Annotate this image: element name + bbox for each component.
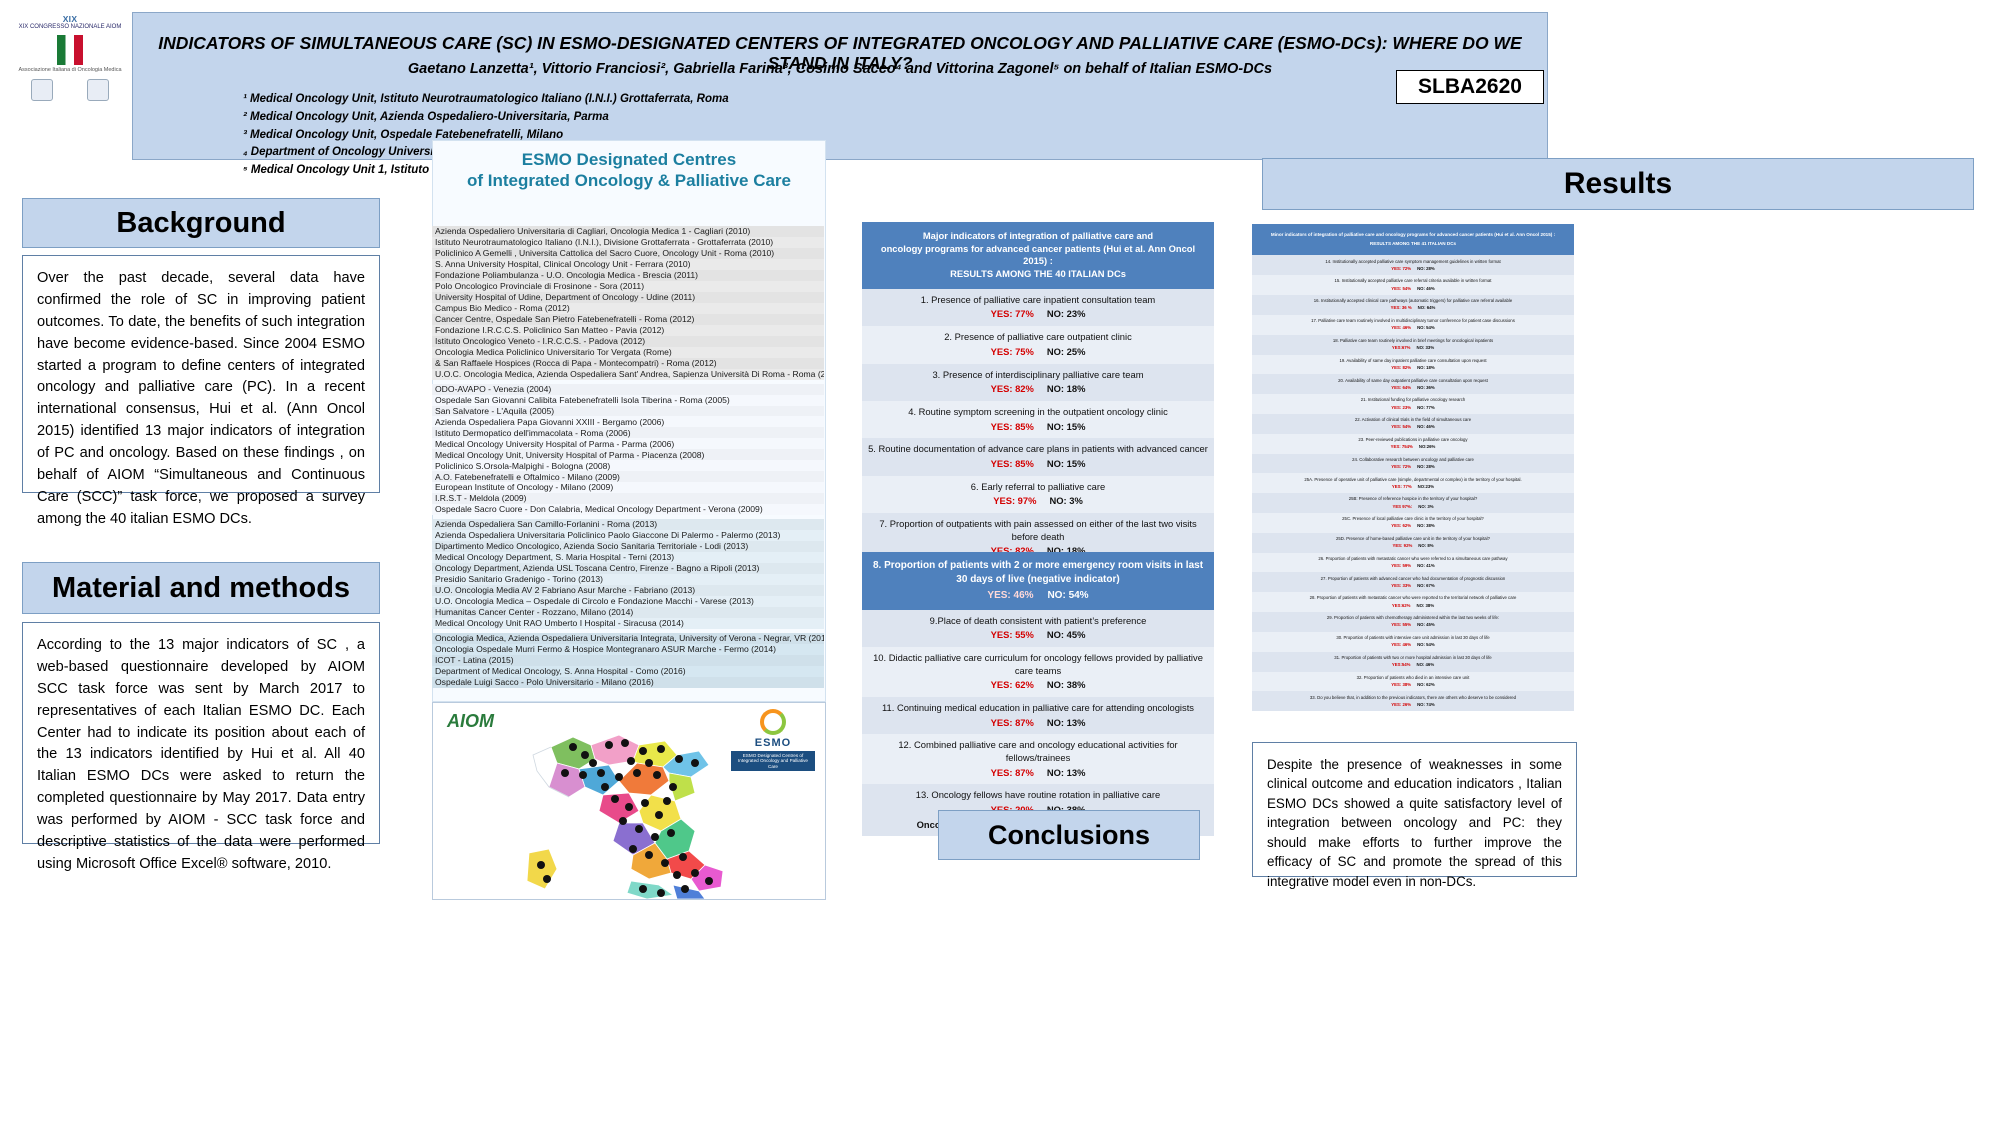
center-list-item: U.O. Oncologia Medica – Ospedale di Circ… xyxy=(432,596,824,607)
major-table-body: 1. Presence of palliative care inpatient… xyxy=(862,289,1214,563)
center-list-item: San Salvatore - L'Aquila (2005) xyxy=(432,406,824,417)
center-list-item: Presidio Sanitario Gradenigo - Torino (2… xyxy=(432,574,824,585)
centres-panel-title: ESMO Designated Centres of Integrated On… xyxy=(433,149,825,192)
indicator-answer: YES:67% NO: 33% xyxy=(1256,345,1570,351)
indicator-text: 17. Palliative care team routinely invol… xyxy=(1256,318,1570,324)
center-list-item: Policlinico A Gemelli , Universita Catto… xyxy=(432,248,824,259)
center-list-item: Department of Medical Oncology, S. Anna … xyxy=(432,666,824,677)
indicator-no-value: NO: 3% xyxy=(1412,504,1433,509)
indicator-text: 23. Peer-reviewed publications in pallia… xyxy=(1256,437,1570,443)
center-list-item: Fondazione I.R.C.C.S. Policlinico San Ma… xyxy=(432,325,824,336)
indicator-no-value: NO: 36% xyxy=(1411,385,1435,390)
indicator-answer: YES: 72% NO: 28% xyxy=(1256,266,1570,272)
indicator-no-value: NO: 18% xyxy=(1411,365,1435,370)
indicator-yes-value: YES: 62% xyxy=(991,679,1034,690)
centres-group: Oncologia Medica, Azienda Ospedaliera Un… xyxy=(432,633,824,688)
affiliation-item: ¹ Medical Oncology Unit, Istituto Neurot… xyxy=(243,91,729,109)
indicator-yes-value: YES: 36 % xyxy=(1391,305,1412,310)
indicator-yes-value: YES: 85% xyxy=(991,421,1034,432)
indicator-answer: YES: 85% NO: 15% xyxy=(868,458,1208,471)
indicator-yes-value: YES:67% xyxy=(1392,345,1411,350)
major-table-header-line: RESULTS AMONG THE 40 ITALIAN DCs xyxy=(868,268,1208,281)
center-list-item: U.O. Oncologia Media AV 2 Fabriano Asur … xyxy=(432,585,824,596)
indicator-yes-value: YES: 26% xyxy=(1391,702,1411,707)
material-methods-text: According to the 13 major indicators of … xyxy=(22,622,380,844)
indicator-answer: YES: 54% NO: 46% xyxy=(1256,424,1570,430)
indicator-no-value: NO: 15% xyxy=(1034,458,1086,469)
center-list-item: Medical Oncology Unit, University Hospit… xyxy=(432,449,824,460)
indicator-no-value: NO: 54% xyxy=(1411,325,1435,330)
indicator-no-value: NO:23% xyxy=(1412,484,1434,489)
indicator-yes-value: YES: 87% xyxy=(991,717,1034,728)
indicator-no-value: NO:26% xyxy=(1413,444,1435,449)
indicator-row: 29. Proportion of patients with chemothe… xyxy=(1252,612,1574,632)
author-list: Gaetano Lanzetta¹, Vittorio Franciosi², … xyxy=(133,61,1547,77)
indicator-no-value: NO: 77% xyxy=(1411,405,1435,410)
indicator-no-value: NO: 33% xyxy=(1411,345,1435,350)
center-list-item: University Hospital of Udine, Department… xyxy=(432,292,824,303)
indicator-no-value: NO: 25% xyxy=(1034,346,1086,357)
indicator-row: 12. Combined palliative care and oncolog… xyxy=(862,734,1214,784)
center-list-item: Ospedale San Giovanni Calibita Fatebenef… xyxy=(432,395,824,406)
indicator-no-value: NO: 46% xyxy=(1411,424,1435,429)
indicator-no-value: NO: 38% xyxy=(1411,523,1435,528)
indicator-row: 26. Proportion of patients with metastat… xyxy=(1252,553,1574,573)
indicator-row: 23. Peer-reviewed publications in pallia… xyxy=(1252,434,1574,454)
indicator-row: 10. Didactic palliative care curriculum … xyxy=(862,647,1214,697)
partner-badge-icon xyxy=(87,79,109,101)
indicator-yes-value: YES: 82% xyxy=(1391,365,1411,370)
indicator-row: 4. Routine symptom screening in the outp… xyxy=(862,401,1214,438)
indicator-row: 9.Place of death consistent with patient… xyxy=(862,610,1214,647)
indicator-row: 16. Institutionally accepted clinical ca… xyxy=(1252,295,1574,315)
italy-map-graphic xyxy=(433,703,826,900)
indicator-text: 25C. Presence of local palliative care c… xyxy=(1256,516,1570,522)
indicator-yes-value: YES: 33% xyxy=(1391,583,1411,588)
italian-centers-list: Azienda Ospedaliero Universitaria di Cag… xyxy=(432,226,824,702)
indicator-yes-value: YES: 77% xyxy=(1392,484,1412,489)
indicator-answer: YES: 72% NO: 28% xyxy=(1256,464,1570,470)
indicator-row: 17. Palliative care team routinely invol… xyxy=(1252,315,1574,335)
abstract-number-badge: SLBA2620 xyxy=(1396,70,1544,104)
indicator-row: 3. Presence of interdisciplinary palliat… xyxy=(862,364,1214,401)
indicator-no-value: NO: 45% xyxy=(1411,622,1435,627)
indicator-answer: YES: 82% NO: 18% xyxy=(868,383,1208,396)
indicator-text: 6. Early referral to palliative care xyxy=(868,481,1208,494)
indicator-yes-value: YES: 64% xyxy=(1391,385,1411,390)
indicator-yes-value: YES: 23% xyxy=(1391,405,1411,410)
centres-group: Azienda Ospedaliero Universitaria di Cag… xyxy=(432,226,824,380)
poster-header: INDICATORS OF SIMULTANEOUS CARE (SC) IN … xyxy=(132,12,1548,160)
indicator-text: 12. Combined palliative care and oncolog… xyxy=(868,739,1208,764)
indicator-no-value: NO: 18% xyxy=(1034,383,1086,394)
center-list-item: Istituto Neurotraumatologico Italiano (I… xyxy=(432,237,824,248)
minor-table-body: 14. Institutionally accepted palliative … xyxy=(1252,255,1574,711)
indicator-no-value: NO: 46% xyxy=(1411,662,1435,667)
indicator-text: 32. Proportion of patients who died in a… xyxy=(1256,675,1570,681)
minor-indicators-table: Minor indicators of integration of palli… xyxy=(1252,224,1574,711)
center-list-item: Ospedale Luigi Sacco - Polo Universitari… xyxy=(432,677,824,688)
center-list-item: Azienda Ospedaliera Papa Giovanni XXIII … xyxy=(432,416,824,427)
indicator-yes-value: YES: 55% xyxy=(1391,622,1411,627)
indicator-text: 26. Proportion of patients with metastat… xyxy=(1256,556,1570,562)
major-indicators-table: Major indicators of integration of palli… xyxy=(862,222,1214,563)
indicator-row: 25B: Presence of reference hospice in th… xyxy=(1252,493,1574,513)
indicator-answer: YES: 75% NO: 25% xyxy=(868,346,1208,359)
indicator-yes-value: YES: 46% xyxy=(1391,325,1411,330)
indicator-row: 32. Proportion of patients who died in a… xyxy=(1252,672,1574,692)
indicator-text: 33. Do you believe that, in addition to … xyxy=(1256,695,1570,701)
indicator-row: 24. Collaborative research between oncol… xyxy=(1252,454,1574,474)
indicator-text: 25D. Presence of home-based palliative c… xyxy=(1256,536,1570,542)
affiliation-item: ² Medical Oncology Unit, Azienda Ospedal… xyxy=(243,109,729,127)
indicator-no-value: NO: 3% xyxy=(1036,495,1082,506)
center-list-item: Polo Oncologico Provinciale di Frosinone… xyxy=(432,281,824,292)
indicator-yes-value: YES: 85% xyxy=(991,458,1034,469)
center-list-item: Azienda Ospedaliera Universitaria Policl… xyxy=(432,530,824,541)
indicator-text: 5. Routine documentation of advance care… xyxy=(868,443,1208,456)
indicator-answer: YES: 92% NO: 8% xyxy=(1256,543,1570,549)
center-list-item: Oncologia Medica, Azienda Ospedaliera Un… xyxy=(432,633,824,644)
center-list-item: I.R.S.T - Meldola (2009) xyxy=(432,493,824,504)
italy-map: AIOM ESMO ESMO Designated Centres of Int… xyxy=(432,702,826,900)
indicator-yes-value: YES: 72% xyxy=(1391,464,1411,469)
indicator-answer: YES: 46% NO: 54% xyxy=(1256,642,1570,648)
indicator-row: 30. Proportion of patients with intensiv… xyxy=(1252,632,1574,652)
indicator-text: 25A. Presence of operative unit of palli… xyxy=(1256,477,1570,483)
indicator-yes-value: YES: 46% xyxy=(1391,642,1411,647)
indicator-answer: YES: 62% NO: 38% xyxy=(1256,523,1570,529)
indicator-row: 11. Continuing medical education in pall… xyxy=(862,697,1214,734)
center-list-item: S. Anna University Hospital, Clinical On… xyxy=(432,259,824,270)
center-list-item: Medical Oncology University Hospital of … xyxy=(432,438,824,449)
indicator-no-value: NO: 28% xyxy=(1411,464,1435,469)
indicator-answer: YES: 62% NO: 38% xyxy=(868,679,1208,692)
indicator-text: 21. Institutional funding for palliative… xyxy=(1256,397,1570,403)
major2-highlight-row: 8. Proportion of patients with 2 or more… xyxy=(862,552,1214,610)
indicator-yes-value: YES: 55% xyxy=(991,629,1034,640)
highlight-yes-value: YES: 46% xyxy=(987,590,1033,601)
aiom-badge-icon xyxy=(31,79,53,101)
indicator-no-value: NO: 38% xyxy=(1034,679,1086,690)
center-list-item: & San Raffaele Hospices (Rocca di Papa -… xyxy=(432,358,824,369)
conclusions-heading: Conclusions xyxy=(938,810,1200,860)
indicator-no-value: NO: 15% xyxy=(1034,421,1086,432)
indicator-answer: YES: 77% NO:23% xyxy=(1256,484,1570,490)
indicator-row: 5. Routine documentation of advance care… xyxy=(862,438,1214,475)
indicator-answer: YES: 38% NO: 62% xyxy=(1256,682,1570,688)
highlight-indicator-answer: YES: 46% NO: 54% xyxy=(868,589,1208,603)
center-list-item: ICOT - Latina (2015) xyxy=(432,655,824,666)
center-list-item: Fondazione Poliambulanza - U.O. Oncologi… xyxy=(432,270,824,281)
indicator-text: 19. Availability of same day inpatient p… xyxy=(1256,358,1570,364)
indicator-text: 31. Proportion of patients with two or m… xyxy=(1256,655,1570,661)
indicator-answer: YES 97%: NO: 3% xyxy=(1256,504,1570,510)
indicator-yes-value: YES: 97% xyxy=(993,495,1036,506)
indicator-no-value: NO: 41% xyxy=(1411,563,1435,568)
logo-badge-row xyxy=(14,79,126,101)
indicator-text: 10. Didactic palliative care curriculum … xyxy=(868,652,1208,677)
indicator-row: 20. Availability of same day outpatient … xyxy=(1252,374,1574,394)
indicator-row: 21. Institutional funding for palliative… xyxy=(1252,394,1574,414)
indicator-text: 20. Availability of same day outpatient … xyxy=(1256,378,1570,384)
major-table-header-line: oncology programs for advanced cancer pa… xyxy=(868,243,1208,268)
indicator-text: 7. Proportion of outpatients with pain a… xyxy=(868,518,1208,543)
italy-flag-icon xyxy=(57,35,83,65)
indicator-row: 2. Presence of palliative care outpatien… xyxy=(862,326,1214,363)
indicator-yes-value: YES: 754% xyxy=(1391,444,1413,449)
indicator-row: 33. Do you believe that, in addition to … xyxy=(1252,691,1574,711)
congress-logo-text: XIX CONGRESSO NAZIONALE AIOM xyxy=(14,24,126,31)
indicator-text: 4. Routine symptom screening in the outp… xyxy=(868,406,1208,419)
center-list-item: U.O.C. Oncologia Medica, Azienda Ospedal… xyxy=(432,369,824,380)
background-text: Over the past decade, several data have … xyxy=(22,255,380,493)
conclusions-text: Despite the presence of weaknesses in so… xyxy=(1252,742,1577,877)
center-list-item: Oncologia Medica Policlinico Universitar… xyxy=(432,347,824,358)
indicator-row: 15. Institutionally accepted palliative … xyxy=(1252,275,1574,295)
indicator-text: 14. Institutionally accepted palliative … xyxy=(1256,259,1570,265)
indicator-text: 30. Proportion of patients with intensiv… xyxy=(1256,635,1570,641)
indicator-text: 18. Palliative care team routinely invol… xyxy=(1256,338,1570,344)
centres-title-line2: of Integrated Oncology & Palliative Care xyxy=(433,170,825,191)
major-table-header-line: Major indicators of integration of palli… xyxy=(868,230,1208,243)
aiom-logo-text: Associazione Italiana di Oncologia Medic… xyxy=(14,67,126,73)
minor-table-header-line: RESULTS AMONG THE 41 ITALIAN DCs xyxy=(1257,240,1569,249)
center-list-item: Azienda Ospedaliero Universitaria di Cag… xyxy=(432,226,824,237)
indicator-text: 25B: Presence of reference hospice in th… xyxy=(1256,496,1570,502)
major-table-header: Major indicators of integration of palli… xyxy=(862,222,1214,289)
congress-logo-mark: XIX xyxy=(14,14,126,24)
indicator-yes-value: YES: 82% xyxy=(991,383,1034,394)
minor-table-header-line: Minor indicators of integration of palli… xyxy=(1257,231,1569,240)
indicator-yes-value: YES: 77% xyxy=(991,308,1034,319)
indicator-text: 24. Collaborative research between oncol… xyxy=(1256,457,1570,463)
indicator-no-value: NO: 62% xyxy=(1411,682,1435,687)
indicator-yes-value: YES: 72% xyxy=(1391,266,1411,271)
indicator-row: 19. Availability of same day inpatient p… xyxy=(1252,355,1574,375)
indicator-answer: YES: 87% NO: 13% xyxy=(868,717,1208,730)
indicator-no-value: NO: 54% xyxy=(1411,642,1435,647)
indicator-text: 1. Presence of palliative care inpatient… xyxy=(868,294,1208,307)
indicator-answer: YES: 85% NO: 15% xyxy=(868,421,1208,434)
center-list-item: Oncologia Ospedale Murri Fermo & Hospice… xyxy=(432,644,824,655)
indicator-yes-value: YES: 54% xyxy=(1391,424,1411,429)
indicator-text: 27. Proportion of patients with advanced… xyxy=(1256,576,1570,582)
major-indicators-table-part2: 8. Proportion of patients with 2 or more… xyxy=(862,552,1214,836)
indicator-yes-value: YES:54% xyxy=(1392,662,1411,667)
indicator-no-value: NO: 67% xyxy=(1411,583,1435,588)
indicator-no-value: NO: 23% xyxy=(1034,308,1086,319)
indicator-text: 22. Activation of clinical trials in the… xyxy=(1256,417,1570,423)
indicator-answer: YES: 36 % NO: 64% xyxy=(1256,305,1570,311)
center-list-item: Policlinico S.Orsola-Malpighi - Bologna … xyxy=(432,460,824,471)
highlight-no-value: NO: 54% xyxy=(1034,590,1089,601)
indicator-row: 31. Proportion of patients with two or m… xyxy=(1252,652,1574,672)
indicator-no-value: NO: 38% xyxy=(1411,603,1435,608)
centres-title-line1: ESMO Designated Centres xyxy=(433,149,825,170)
center-list-item: Ospedale Sacro Cuore - Don Calabria, Med… xyxy=(432,504,824,515)
background-heading: Background xyxy=(22,198,380,248)
material-methods-heading: Material and methods xyxy=(22,562,380,614)
center-list-item: Istituto Dermopatico dell'immacolata - R… xyxy=(432,427,824,438)
indicator-row: 18. Palliative care team routinely invol… xyxy=(1252,335,1574,355)
indicator-yes-value: YES: 92% xyxy=(1392,543,1412,548)
indicator-row: 25A. Presence of operative unit of palli… xyxy=(1252,473,1574,493)
indicator-no-value: NO: 8% xyxy=(1412,543,1433,548)
center-list-item: Istituto Oncologico Veneto - I.R.C.C.S. … xyxy=(432,336,824,347)
indicator-yes-value: YES: 62% xyxy=(1391,523,1411,528)
center-list-item: Cancer Centre, Ospedale San Pietro Fateb… xyxy=(432,314,824,325)
indicator-row: 25D. Presence of home-based palliative c… xyxy=(1252,533,1574,553)
indicator-text: 11. Continuing medical education in pall… xyxy=(868,702,1208,715)
major2-table-body: 9.Place of death consistent with patient… xyxy=(862,610,1214,837)
indicator-row: 28. Proportion of patients with metastat… xyxy=(1252,592,1574,612)
center-list-item: Humanitas Cancer Center - Rozzano, Milan… xyxy=(432,607,824,618)
indicator-text: 9.Place of death consistent with patient… xyxy=(868,615,1208,628)
centres-group: Azienda Ospedaliera San Camillo-Forlanin… xyxy=(432,519,824,629)
indicator-text: 28. Proportion of patients with metastat… xyxy=(1256,595,1570,601)
center-list-item: Oncology Department, Azienda USL Toscana… xyxy=(432,563,824,574)
indicator-row: 22. Activation of clinical trials in the… xyxy=(1252,414,1574,434)
indicator-answer: YES:62% NO: 38% xyxy=(1256,603,1570,609)
indicator-no-value: NO: 64% xyxy=(1412,305,1436,310)
indicator-answer: YES: 55% NO: 45% xyxy=(1256,622,1570,628)
indicator-answer: YES: 97% NO: 3% xyxy=(868,495,1208,508)
indicator-answer: YES: 64% NO: 36% xyxy=(1256,385,1570,391)
indicator-no-value: NO: 45% xyxy=(1034,629,1086,640)
indicator-answer: YES: 33% NO: 67% xyxy=(1256,583,1570,589)
center-list-item: Medical Oncology Unit RAO Umberto I Hosp… xyxy=(432,618,824,629)
indicator-answer: YES: 82% NO: 18% xyxy=(1256,365,1570,371)
highlight-indicator-text: 8. Proportion of patients with 2 or more… xyxy=(868,559,1208,586)
indicator-answer: YES: 55% NO: 45% xyxy=(868,629,1208,642)
indicator-no-value: NO: 28% xyxy=(1411,266,1435,271)
indicator-text: 2. Presence of palliative care outpatien… xyxy=(868,331,1208,344)
indicator-yes-value: YES 97%: xyxy=(1392,504,1412,509)
indicator-answer: YES: 46% NO: 54% xyxy=(1256,325,1570,331)
center-list-item: ODO-AVAPO - Venezia (2004) xyxy=(432,384,824,395)
indicator-yes-value: YES: 87% xyxy=(991,767,1034,778)
indicator-text: 29. Proportion of patients with chemothe… xyxy=(1256,615,1570,621)
indicator-no-value: NO: 46% xyxy=(1411,286,1435,291)
indicator-no-value: NO: 13% xyxy=(1034,767,1086,778)
indicator-text: 16. Institutionally accepted clinical ca… xyxy=(1256,298,1570,304)
indicator-row: 27. Proportion of patients with advanced… xyxy=(1252,572,1574,592)
indicator-answer: YES: 26% NO: 74% xyxy=(1256,702,1570,708)
indicator-yes-value: YES: 75% xyxy=(991,346,1034,357)
indicator-no-value: NO: 13% xyxy=(1034,717,1086,728)
center-list-item: European Institute of Oncology - Milano … xyxy=(432,482,824,493)
indicator-answer: YES:54% NO: 46% xyxy=(1256,662,1570,668)
indicator-row: 1. Presence of palliative care inpatient… xyxy=(862,289,1214,326)
indicator-answer: YES: 59% NO: 41% xyxy=(1256,563,1570,569)
indicator-yes-value: YES: 59% xyxy=(1391,563,1411,568)
indicator-answer: YES: 87% NO: 13% xyxy=(868,767,1208,780)
center-list-item: Campus Bio Medico - Roma (2012) xyxy=(432,303,824,314)
indicator-row: 14. Institutionally accepted palliative … xyxy=(1252,255,1574,275)
indicator-answer: YES: 754% NO:26% xyxy=(1256,444,1570,450)
center-list-item: Medical Oncology Department, S. Maria Ho… xyxy=(432,552,824,563)
indicator-text: 13. Oncology fellows have routine rotati… xyxy=(868,789,1208,802)
indicator-yes-value: YES:62% xyxy=(1392,603,1411,608)
center-list-item: Azienda Ospedaliera San Camillo-Forlanin… xyxy=(432,519,824,530)
indicator-answer: YES: 54% NO: 46% xyxy=(1256,286,1570,292)
indicator-answer: YES: 77% NO: 23% xyxy=(868,308,1208,321)
indicator-answer: YES: 23% NO: 77% xyxy=(1256,405,1570,411)
indicator-text: 15. Institutionally accepted palliative … xyxy=(1256,278,1570,284)
results-heading: Results xyxy=(1262,158,1974,210)
center-list-item: Dipartimento Medico Oncologico, Azienda … xyxy=(432,541,824,552)
indicator-no-value: NO: 74% xyxy=(1411,702,1435,707)
indicator-text: 3. Presence of interdisciplinary palliat… xyxy=(868,369,1208,382)
indicator-row: 6. Early referral to palliative careYES:… xyxy=(862,476,1214,513)
center-list-item: A.O. Fatebenefratelli e Oftalmico - Mila… xyxy=(432,471,824,482)
congress-logo: XIX XIX CONGRESSO NAZIONALE AIOM Associa… xyxy=(14,10,126,152)
centres-group: ODO-AVAPO - Venezia (2004)Ospedale San G… xyxy=(432,384,824,516)
indicator-yes-value: YES: 54% xyxy=(1391,286,1411,291)
indicator-row: 25C. Presence of local palliative care c… xyxy=(1252,513,1574,533)
indicator-yes-value: YES: 38% xyxy=(1391,682,1411,687)
minor-table-header: Minor indicators of integration of palli… xyxy=(1252,224,1574,255)
